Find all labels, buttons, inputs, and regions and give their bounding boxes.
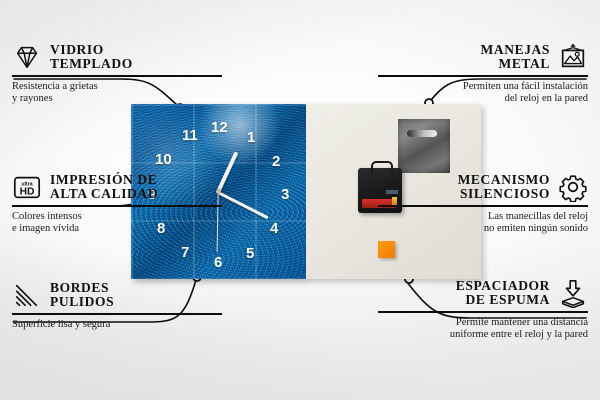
feature-description: Resistencia a grietas y rayones: [12, 81, 222, 106]
clock-numeral-6: 6: [214, 255, 222, 270]
foam-spacer: [378, 241, 395, 258]
feature-mecanismo-silencioso: MECANISMO SILENCIOSO Las manecillas del …: [378, 172, 588, 236]
feature-vidrio-templado: VIDRIO TEMPLADO Resistencia a grietas y …: [12, 42, 222, 106]
clock-numeral-11: 11: [182, 128, 198, 143]
feature-description: Las manecillas del reloj no emiten ningú…: [378, 211, 588, 236]
clock-numeral-10: 10: [155, 152, 172, 167]
feature-divider: [378, 75, 588, 77]
feature-title: IMPRESIÓN DE ALTA CALIDAD: [50, 173, 158, 202]
feature-title: VIDRIO TEMPLADO: [50, 43, 133, 72]
feature-divider: [378, 205, 588, 207]
hanger-slot: [407, 130, 437, 137]
feature-title: MANEJAS METAL: [481, 43, 550, 72]
feature-divider: [12, 75, 222, 77]
clock-numeral-4: 4: [270, 221, 278, 236]
feature-description: Superficie lisa y segura: [12, 319, 222, 332]
foam-spacer-icon: [558, 278, 588, 308]
clock-numeral-3: 3: [281, 187, 289, 202]
feature-description: Colores intensos e imagen vívida: [12, 211, 222, 236]
feature-title: MECANISMO SILENCIOSO: [458, 173, 550, 202]
clock-numeral-7: 7: [181, 245, 189, 260]
ultra-hd-icon: ultra HD: [12, 172, 42, 202]
clock-numeral-2: 2: [272, 154, 280, 169]
polished-edge-icon: [12, 280, 42, 310]
clock-numeral-5: 5: [246, 246, 254, 261]
infographic-canvas: 12 1 2 3 4 5 6 7 8 9 10 11: [0, 0, 600, 400]
diamond-icon: [12, 42, 42, 72]
clock-numeral-1: 1: [247, 130, 255, 145]
metal-hanger-plate: [398, 119, 450, 173]
feature-title: BORDES PULIDOS: [50, 281, 114, 310]
feature-manejas-metal: MANEJAS METAL Permiten una fácil instala…: [378, 42, 588, 106]
feature-divider: [12, 313, 222, 315]
picture-hanging-icon: [558, 42, 588, 72]
feature-espaciador-espuma: ESPACIADOR DE ESPUMA Permite mantener un…: [378, 278, 588, 342]
feature-title: ESPACIADOR DE ESPUMA: [456, 279, 550, 308]
clock-numeral-12: 12: [211, 120, 228, 135]
gear-icon: [558, 172, 588, 202]
feature-divider: [378, 311, 588, 313]
svg-text:HD: HD: [20, 187, 35, 198]
feature-description: Permite mantener una distancia uniforme …: [378, 317, 588, 342]
feature-bordes-pulidos: BORDES PULIDOS Superficie lisa y segura: [12, 280, 222, 331]
feature-impresion-alta-calidad: ultra HD IMPRESIÓN DE ALTA CALIDAD Color…: [12, 172, 222, 236]
feature-divider: [12, 205, 222, 207]
feature-description: Permiten una fácil instalación del reloj…: [378, 81, 588, 106]
